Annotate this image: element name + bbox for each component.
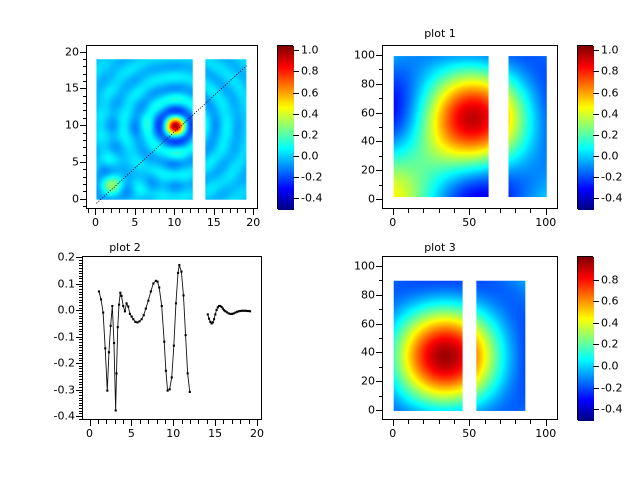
- axes-frame: [382, 256, 558, 420]
- tick-mark: [593, 93, 599, 94]
- tick-mark: [293, 198, 299, 199]
- heatmap-block: [394, 281, 463, 411]
- tick-mark: [376, 410, 382, 411]
- series-marker: [212, 321, 214, 323]
- axes-content: [87, 46, 258, 209]
- tick-label: 0: [389, 428, 396, 439]
- tick-mark: [83, 140, 87, 141]
- heatmap-block: [205, 59, 246, 199]
- subplot-bottom-left: plot 2 051015200.20.10.0-0.1-0.2-0.3-0.4: [0, 240, 320, 480]
- tick-mark: [79, 331, 82, 332]
- tick-mark: [157, 420, 158, 424]
- tick-mark: [79, 371, 82, 372]
- tick-mark: [182, 420, 183, 424]
- tick-label: 0.2: [38, 252, 75, 263]
- tick-label: 0.6: [601, 296, 619, 307]
- tick-mark: [379, 309, 383, 310]
- tick-mark: [79, 294, 82, 295]
- tick-label: 0.4: [301, 108, 319, 119]
- tick-mark: [166, 209, 167, 213]
- tick-label: 10: [167, 217, 181, 228]
- tick-label: 0: [344, 193, 375, 204]
- tick-mark: [593, 114, 599, 115]
- tick-mark: [151, 209, 152, 213]
- tick-mark: [376, 55, 382, 56]
- tick-mark: [379, 127, 383, 128]
- series-marker: [104, 347, 106, 349]
- tick-label: -0.1: [38, 331, 75, 342]
- heatmap-block: [476, 281, 525, 411]
- tick-mark: [79, 382, 82, 383]
- tick-mark: [182, 209, 183, 213]
- tick-label: 0.0: [38, 305, 75, 316]
- series-marker: [216, 309, 218, 311]
- tick-mark: [379, 338, 383, 339]
- series-marker: [177, 272, 179, 274]
- tick-mark: [293, 114, 299, 115]
- tick-mark: [593, 344, 599, 345]
- tick-mark: [127, 209, 128, 213]
- tick-label: 0.8: [601, 66, 619, 77]
- tick-mark: [173, 420, 174, 426]
- tick-mark: [469, 209, 470, 215]
- tick-mark: [79, 413, 82, 414]
- tick-mark: [530, 420, 531, 424]
- tick-mark: [79, 355, 82, 356]
- tick-mark: [79, 374, 82, 375]
- series-marker: [127, 305, 129, 307]
- tick-mark: [222, 209, 223, 213]
- series-marker: [134, 321, 136, 323]
- tick-mark: [79, 403, 82, 404]
- series-marker: [208, 318, 210, 320]
- heatmap-block: [96, 59, 192, 199]
- tick-mark: [79, 292, 82, 293]
- tick-mark: [293, 156, 299, 157]
- tick-mark: [439, 420, 440, 424]
- tick-mark: [79, 297, 82, 298]
- tick-mark: [379, 156, 383, 157]
- tick-mark: [79, 387, 82, 388]
- series-marker: [111, 305, 113, 307]
- tick-label: 0.2: [601, 339, 619, 350]
- tick-mark: [79, 419, 82, 420]
- tick-mark: [83, 103, 87, 104]
- tick-mark: [79, 263, 82, 264]
- tick-mark: [83, 96, 87, 97]
- heatmap-block: [394, 56, 489, 197]
- tick-label: 20: [344, 165, 375, 176]
- tick-mark: [530, 209, 531, 213]
- series-marker: [152, 282, 154, 284]
- tick-mark: [593, 50, 599, 51]
- tick-mark: [83, 147, 87, 148]
- tick-label: 10: [48, 120, 79, 131]
- tick-mark: [83, 66, 87, 67]
- tick-mark: [79, 300, 82, 301]
- tick-label: 5: [131, 217, 138, 228]
- tick-label: 0.4: [601, 108, 619, 119]
- tick-mark: [119, 209, 120, 213]
- tick-mark: [198, 420, 199, 424]
- tick-mark: [79, 323, 82, 324]
- tick-label: 0.0: [601, 361, 619, 372]
- tick-mark: [376, 170, 382, 171]
- tick-label: 50: [462, 428, 476, 439]
- tick-mark: [376, 324, 382, 325]
- series-marker: [136, 321, 138, 323]
- tick-label: 80: [344, 289, 375, 300]
- tick-mark: [240, 420, 241, 424]
- series-marker: [182, 294, 184, 296]
- tick-mark: [376, 381, 382, 382]
- series-marker: [126, 302, 128, 304]
- series-marker: [98, 290, 100, 292]
- tick-mark: [376, 113, 382, 114]
- tick-mark: [379, 280, 383, 281]
- colorbar: [577, 256, 593, 420]
- series-marker: [187, 372, 189, 374]
- tick-mark: [79, 281, 82, 282]
- series-marker: [110, 325, 112, 327]
- tick-mark: [135, 209, 136, 215]
- tick-mark: [454, 209, 455, 213]
- series-marker: [118, 304, 120, 306]
- figure-canvas: 0510152005101520 1.00.80.60.40.20.0-0.2-…: [0, 0, 640, 480]
- tick-label: 15: [48, 83, 79, 94]
- tick-mark: [79, 278, 82, 279]
- series-marker: [147, 300, 149, 302]
- tick-mark: [79, 366, 82, 367]
- tick-mark: [376, 141, 382, 142]
- tick-label: -0.3: [38, 384, 75, 395]
- tick-label: 60: [344, 107, 375, 118]
- tick-label: 50: [462, 217, 476, 228]
- tick-label: 0.8: [301, 66, 319, 77]
- tick-mark: [79, 289, 82, 290]
- series-marker: [121, 295, 123, 297]
- tick-mark: [76, 257, 82, 258]
- tick-mark: [88, 209, 89, 213]
- tick-mark: [140, 420, 141, 424]
- tick-mark: [79, 329, 82, 330]
- tick-mark: [593, 388, 599, 389]
- panel-title: plot 1: [280, 28, 600, 40]
- tick-mark: [230, 209, 231, 213]
- tick-mark: [393, 209, 394, 215]
- colorbar: [577, 45, 593, 209]
- tick-mark: [76, 363, 82, 364]
- tick-mark: [83, 184, 87, 185]
- subplot-top-left: 0510152005101520 1.00.80.60.40.20.0-0.2-…: [0, 0, 320, 240]
- tick-mark: [83, 118, 87, 119]
- series-marker: [115, 372, 117, 374]
- tick-mark: [293, 71, 299, 72]
- heatmap-block: [508, 56, 546, 197]
- series-marker: [102, 312, 104, 314]
- tick-mark: [98, 420, 99, 424]
- tick-mark: [469, 420, 470, 426]
- tick-label: 10: [166, 428, 180, 439]
- colorbar-gradient: [578, 46, 594, 210]
- series-marker: [163, 341, 165, 343]
- series-marker: [106, 390, 108, 392]
- tick-mark: [546, 420, 547, 426]
- series-marker: [132, 318, 134, 320]
- tick-mark: [111, 209, 112, 213]
- tick-mark: [80, 125, 86, 126]
- tick-mark: [206, 209, 207, 213]
- tick-mark: [257, 420, 258, 426]
- tick-mark: [76, 390, 82, 391]
- tick-mark: [79, 360, 82, 361]
- tick-mark: [515, 420, 516, 424]
- tick-label: 5: [48, 156, 79, 167]
- tick-label: 0.6: [601, 87, 619, 98]
- tick-mark: [593, 135, 599, 136]
- tick-mark: [593, 409, 599, 410]
- tick-mark: [83, 133, 87, 134]
- series-marker: [157, 281, 159, 283]
- tick-mark: [546, 209, 547, 215]
- tick-mark: [79, 273, 82, 274]
- tick-mark: [593, 177, 599, 178]
- tick-label: 0.4: [601, 317, 619, 328]
- series-marker: [161, 305, 163, 307]
- tick-mark: [79, 379, 82, 380]
- tick-mark: [79, 398, 82, 399]
- tick-label: -0.4: [38, 411, 75, 422]
- tick-mark: [83, 177, 87, 178]
- tick-label: 0.2: [601, 129, 619, 140]
- tick-mark: [249, 420, 250, 424]
- tick-mark: [223, 420, 224, 424]
- tick-mark: [485, 420, 486, 424]
- tick-mark: [79, 350, 82, 351]
- series-marker: [185, 334, 187, 336]
- tick-mark: [174, 209, 175, 215]
- tick-mark: [83, 81, 87, 82]
- series-marker: [178, 264, 180, 266]
- tick-label: 40: [344, 136, 375, 147]
- tick-mark: [79, 395, 82, 396]
- series-marker: [173, 345, 175, 347]
- tick-mark: [423, 420, 424, 424]
- series-marker: [158, 286, 160, 288]
- tick-label: 100: [344, 261, 375, 272]
- tick-label: 1.0: [601, 45, 619, 56]
- tick-mark: [379, 367, 383, 368]
- tick-mark: [76, 284, 82, 285]
- tick-mark: [79, 276, 82, 277]
- tick-mark: [115, 420, 116, 424]
- series-marker: [139, 320, 141, 322]
- tick-mark: [95, 209, 96, 215]
- series-marker: [180, 271, 182, 273]
- panel-title: plot 3: [280, 242, 600, 254]
- tick-mark: [293, 177, 299, 178]
- tick-mark: [237, 209, 238, 213]
- tick-mark: [515, 209, 516, 213]
- tick-label: 40: [344, 347, 375, 358]
- tick-mark: [593, 280, 599, 281]
- tick-mark: [79, 353, 82, 354]
- series-marker: [141, 318, 143, 320]
- tick-mark: [79, 271, 82, 272]
- tick-mark: [439, 209, 440, 213]
- tick-mark: [408, 209, 409, 213]
- tick-mark: [79, 321, 82, 322]
- axes-content: [383, 46, 558, 209]
- tick-mark: [376, 295, 382, 296]
- tick-mark: [293, 50, 299, 51]
- tick-mark: [90, 420, 91, 426]
- tick-label: 100: [535, 428, 556, 439]
- series-marker: [124, 310, 126, 312]
- tick-mark: [159, 209, 160, 213]
- axes-frame: [382, 45, 558, 209]
- tick-label: 0.2: [301, 129, 319, 140]
- series-marker: [165, 370, 167, 372]
- tick-mark: [83, 169, 87, 170]
- tick-label: 15: [208, 428, 222, 439]
- tick-mark: [83, 191, 87, 192]
- tick-mark: [376, 199, 382, 200]
- tick-mark: [80, 162, 86, 163]
- tick-mark: [232, 420, 233, 424]
- tick-mark: [79, 400, 82, 401]
- tick-mark: [379, 98, 383, 99]
- tick-mark: [376, 352, 382, 353]
- tick-mark: [80, 88, 86, 89]
- tick-mark: [379, 185, 383, 186]
- tick-mark: [79, 268, 82, 269]
- series-marker: [175, 302, 177, 304]
- series-marker: [129, 313, 131, 315]
- tick-mark: [245, 209, 246, 213]
- tick-mark: [485, 209, 486, 213]
- colorbar-gradient: [578, 257, 594, 421]
- tick-mark: [408, 420, 409, 424]
- tick-mark: [79, 286, 82, 287]
- tick-mark: [80, 199, 86, 200]
- tick-mark: [76, 416, 82, 417]
- series-marker: [249, 310, 251, 312]
- series-line: [99, 265, 190, 410]
- tick-mark: [379, 396, 383, 397]
- tick-label: 0.1: [38, 278, 75, 289]
- tick-label: 20: [344, 376, 375, 387]
- tick-mark: [79, 384, 82, 385]
- colorbar: [277, 45, 293, 209]
- tick-mark: [454, 420, 455, 424]
- tick-mark: [131, 420, 132, 426]
- series-marker: [150, 290, 152, 292]
- tick-mark: [593, 71, 599, 72]
- series-marker: [189, 391, 191, 393]
- tick-mark: [79, 376, 82, 377]
- tick-mark: [500, 209, 501, 213]
- series-marker: [115, 409, 117, 411]
- tick-mark: [79, 347, 82, 348]
- tick-mark: [393, 420, 394, 426]
- tick-mark: [593, 366, 599, 367]
- tick-mark: [79, 358, 82, 359]
- tick-mark: [79, 313, 82, 314]
- tick-mark: [165, 420, 166, 424]
- tick-mark: [198, 209, 199, 213]
- tick-label: -0.2: [38, 358, 75, 369]
- series-marker: [143, 314, 145, 316]
- series-marker: [100, 298, 102, 300]
- tick-label: 0.0: [601, 151, 619, 162]
- tick-mark: [83, 59, 87, 60]
- tick-mark: [207, 420, 208, 424]
- tick-mark: [79, 265, 82, 266]
- tick-mark: [593, 156, 599, 157]
- tick-mark: [593, 198, 599, 199]
- series-marker: [108, 351, 110, 353]
- axes-frame: [86, 45, 258, 209]
- tick-label: 20: [48, 46, 79, 57]
- tick-label: -0.2: [601, 172, 622, 183]
- tick-mark: [83, 155, 87, 156]
- tick-label: 100: [535, 217, 556, 228]
- tick-mark: [215, 420, 216, 426]
- tick-mark: [214, 209, 215, 215]
- tick-mark: [106, 420, 107, 424]
- series-marker: [167, 390, 169, 392]
- tick-mark: [79, 408, 82, 409]
- series-marker: [171, 376, 173, 378]
- tick-mark: [76, 310, 82, 311]
- tick-mark: [83, 74, 87, 75]
- series-marker: [207, 313, 209, 315]
- tick-mark: [593, 323, 599, 324]
- tick-mark: [79, 316, 82, 317]
- tick-label: -0.4: [601, 404, 622, 415]
- tick-label: -0.2: [601, 382, 622, 393]
- tick-label: 0: [92, 217, 99, 228]
- tick-mark: [500, 420, 501, 424]
- tick-label: 0: [389, 217, 396, 228]
- tick-label: -0.4: [601, 193, 622, 204]
- series-marker: [145, 308, 147, 310]
- tick-label: 0.0: [301, 151, 319, 162]
- tick-mark: [293, 93, 299, 94]
- tick-mark: [376, 266, 382, 267]
- tick-label: 20: [246, 217, 260, 228]
- series-marker: [117, 326, 119, 328]
- series-marker: [169, 388, 171, 390]
- tick-label: 60: [344, 318, 375, 329]
- tick-label: 0: [86, 428, 93, 439]
- tick-label: 0.8: [601, 274, 619, 285]
- tick-mark: [80, 52, 86, 53]
- tick-label: 1.0: [301, 45, 319, 56]
- subplot-top-right: plot 1 050100020406080100 1.00.80.60.40.…: [320, 0, 640, 240]
- tick-mark: [423, 209, 424, 213]
- tick-label: 15: [207, 217, 221, 228]
- tick-mark: [103, 209, 104, 213]
- tick-mark: [79, 302, 82, 303]
- tick-mark: [79, 345, 82, 346]
- tick-mark: [83, 110, 87, 111]
- tick-mark: [79, 339, 82, 340]
- colorbar-gradient: [278, 46, 294, 210]
- tick-label: 100: [344, 50, 375, 61]
- series-marker: [119, 292, 121, 294]
